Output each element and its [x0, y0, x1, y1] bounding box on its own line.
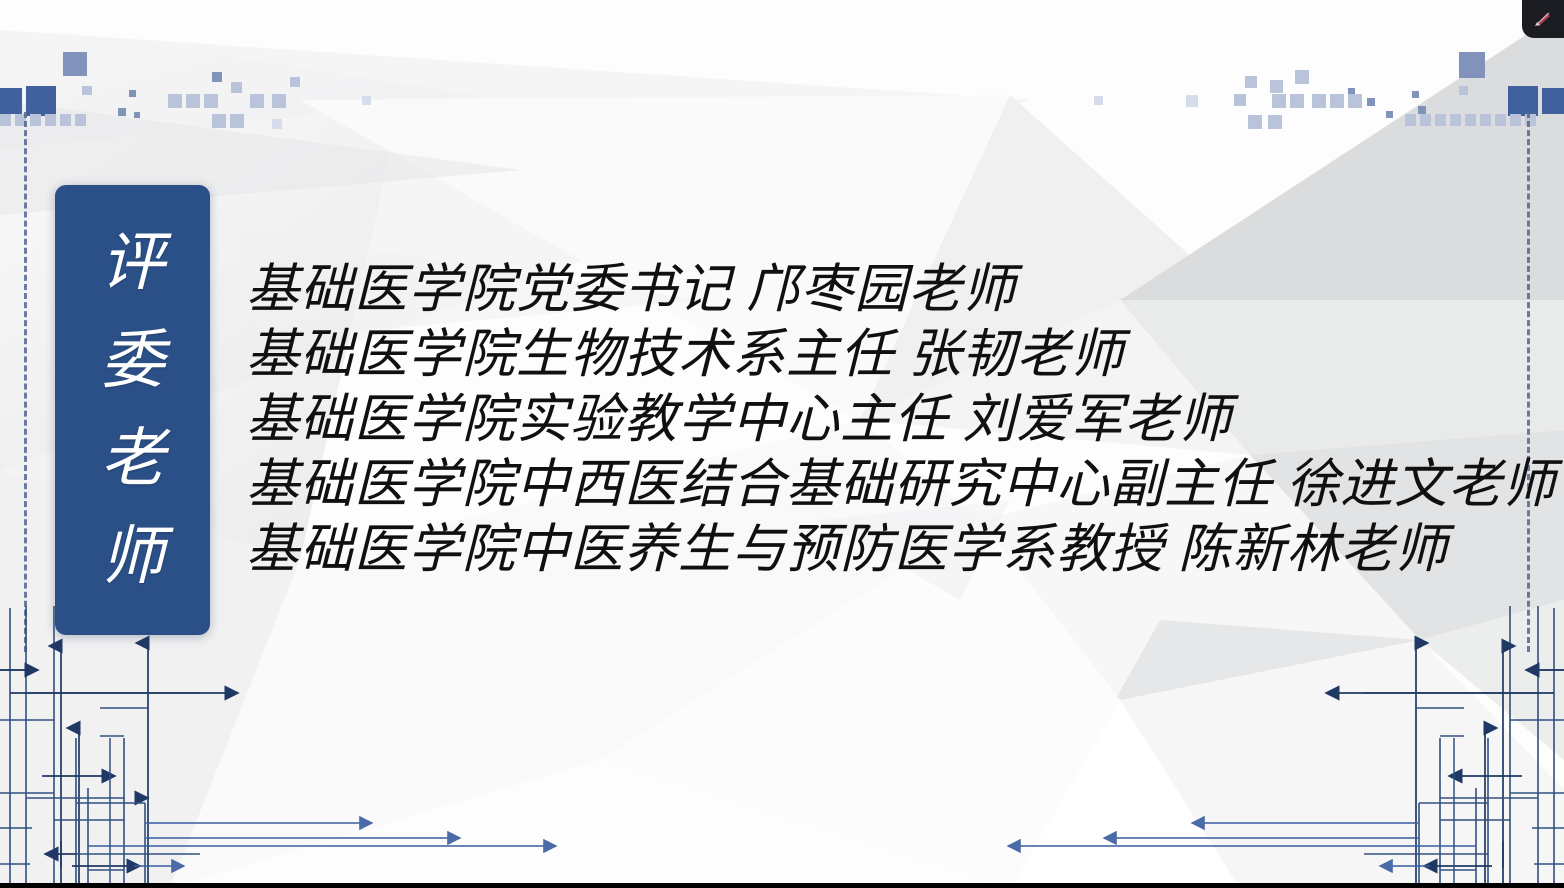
judge-line: 基础医学院中医养生与预防医学系教授 陈新林老师 — [246, 518, 1536, 583]
decor-square — [0, 114, 11, 126]
presentation-slide: 评 委 老 师 基础医学院党委书记 邝枣园老师 基础医学院生物技术系主任 张韧老… — [0, 0, 1564, 888]
judge-line: 基础医学院实验教学中心主任 刘爱军老师 — [246, 388, 1536, 453]
decor-square — [1272, 94, 1286, 108]
decor-square — [231, 82, 242, 93]
decor-square — [1268, 115, 1282, 129]
bottom-left-circuit-decoration — [0, 598, 560, 888]
decor-square — [1367, 98, 1375, 106]
decor-square — [212, 114, 226, 128]
decor-square — [1245, 76, 1257, 88]
watermark-badge — [1522, 0, 1564, 38]
decor-square — [1348, 94, 1362, 108]
decor-square — [45, 114, 56, 126]
decor-square — [1418, 106, 1426, 114]
decor-square — [134, 112, 140, 118]
decor-square — [118, 108, 126, 116]
decor-square — [1295, 70, 1309, 84]
decor-square — [1459, 52, 1485, 78]
judge-line: 基础医学院生物技术系主任 张韧老师 — [246, 323, 1536, 388]
decor-square — [1270, 80, 1283, 93]
decor-square — [1510, 114, 1521, 126]
decor-square — [1542, 88, 1564, 114]
decor-square — [1435, 114, 1446, 126]
decor-square — [1412, 91, 1419, 98]
decor-square — [1450, 114, 1461, 126]
decor-square — [1459, 86, 1468, 95]
decor-square — [1495, 114, 1506, 126]
decor-square — [83, 86, 92, 95]
decor-square — [272, 94, 286, 108]
decor-square — [60, 114, 71, 126]
decor-square — [1312, 94, 1326, 108]
judge-line: 基础医学院党委书记 邝枣园老师 — [246, 258, 1536, 323]
decor-square — [272, 119, 282, 129]
judge-line: 基础医学院中西医结合基础研究中心副主任 徐进文老师 — [246, 453, 1536, 518]
decor-square — [204, 94, 218, 108]
decor-square — [1330, 94, 1344, 108]
decor-square — [1420, 114, 1431, 126]
decor-square — [1290, 94, 1304, 108]
decor-square — [290, 77, 300, 87]
decor-square — [1405, 114, 1416, 126]
watermark-logo-icon — [1533, 9, 1553, 29]
decor-square — [186, 94, 200, 108]
judges-list: 基础医学院党委书记 邝枣园老师 基础医学院生物技术系主任 张韧老师 基础医学院实… — [246, 258, 1536, 583]
left-dashed-rule — [24, 112, 27, 652]
decor-square — [230, 114, 244, 128]
decor-square — [250, 94, 264, 108]
decor-square — [1234, 94, 1246, 106]
bottom-right-circuit-decoration — [1004, 598, 1564, 888]
decor-square — [129, 90, 136, 97]
decor-square — [1186, 95, 1198, 107]
judges-title-plate: 评 委 老 师 — [55, 185, 210, 635]
decor-square — [63, 52, 87, 76]
decor-square — [1386, 111, 1393, 118]
title-char-1: 评 — [101, 231, 165, 295]
title-char-4: 师 — [101, 525, 165, 589]
decor-square — [212, 72, 222, 82]
decor-square — [1480, 114, 1491, 126]
decor-square — [362, 96, 371, 105]
decor-square — [168, 94, 182, 108]
decor-square — [26, 86, 56, 116]
decor-square — [0, 88, 22, 114]
title-char-3: 老 — [101, 427, 165, 491]
title-char-2: 委 — [101, 329, 165, 393]
decor-square — [1508, 86, 1538, 116]
decor-square — [1094, 96, 1103, 105]
bottom-letterbox-bar — [0, 883, 1564, 888]
decor-square — [1248, 115, 1262, 129]
decor-square — [75, 114, 86, 126]
decor-square — [1465, 114, 1476, 126]
decor-square — [30, 114, 41, 126]
